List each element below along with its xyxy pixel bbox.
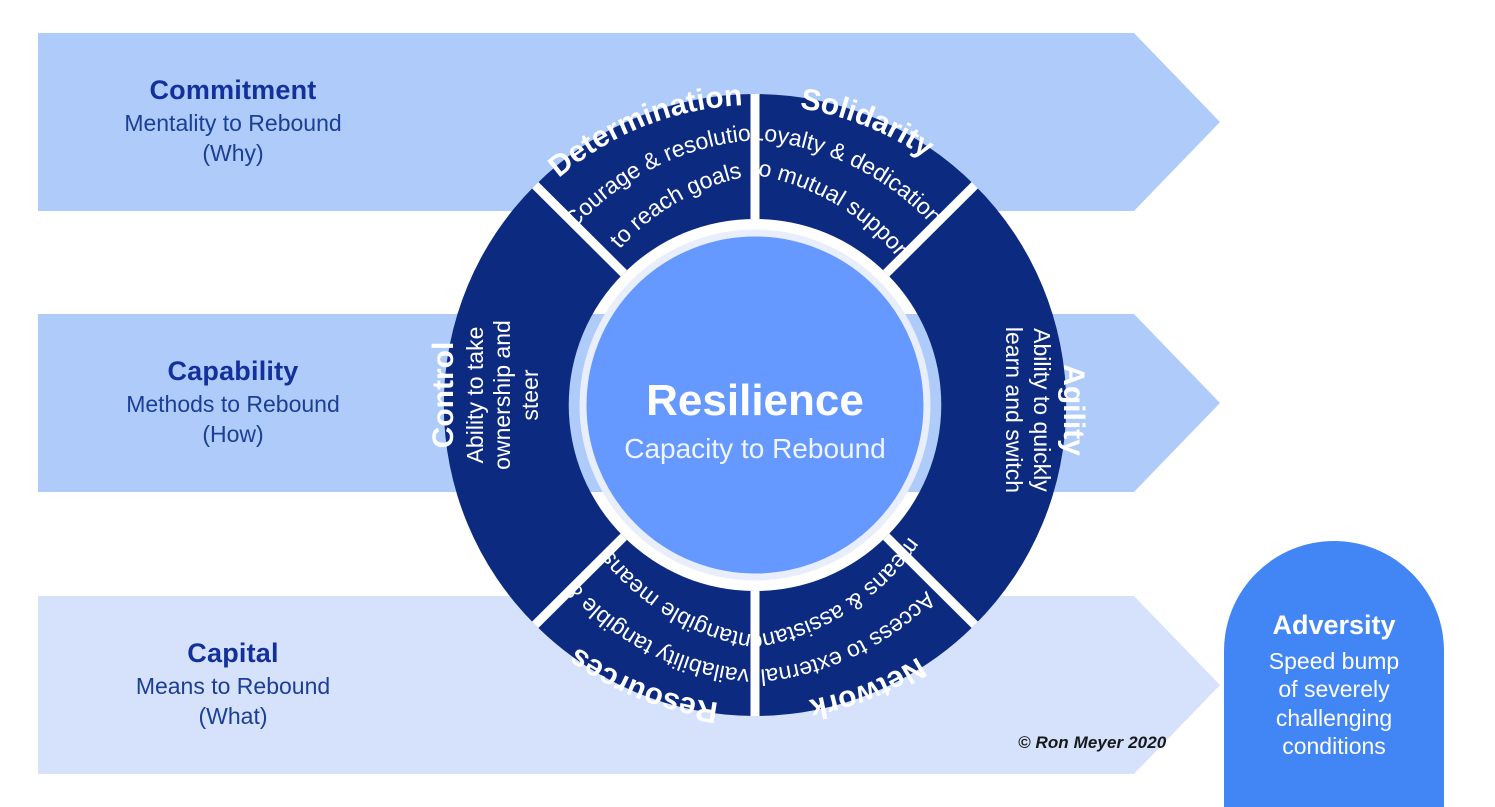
segment-control-line2: Ability to take <box>462 327 490 464</box>
arrow-capability-line3: (How) <box>202 420 263 450</box>
segment-agility-line3: learn and switch <box>999 327 1027 493</box>
segment-control-label: Control Ability to take ownership and st… <box>360 305 610 485</box>
arrow-commitment-line3: (Why) <box>202 139 263 169</box>
segment-agility-line2: Ability to quickly <box>1027 328 1055 492</box>
arrow-capital-line2: Means to Rebound <box>136 672 330 702</box>
segment-agility-label: Agility Ability to quickly learn and swi… <box>920 320 1170 500</box>
arrow-capital-line3: (What) <box>199 702 268 732</box>
adversity-line4: challenging <box>1276 704 1392 732</box>
segment-agility-title: Agility <box>1055 364 1091 456</box>
hub-title: Resilience <box>646 376 864 425</box>
arrow-commitment-line2: Mentality to Rebound <box>124 109 341 139</box>
diagram-canvas: Commitment Mentality to Rebound (Why) Ca… <box>0 0 1495 807</box>
hub-subtitle: Capacity to Rebound <box>624 433 886 464</box>
copyright-credit: © Ron Meyer 2020 <box>1018 733 1166 753</box>
arrow-capability-title: Capability <box>167 356 298 387</box>
segment-control-line3: ownership and steer <box>489 305 544 485</box>
arrow-capability-line2: Methods to Rebound <box>126 390 340 420</box>
segment-control-title: Control <box>426 342 462 449</box>
adversity-line5: conditions <box>1282 732 1386 760</box>
arrow-capital-title: Capital <box>187 638 278 669</box>
adversity-title: Adversity <box>1272 610 1395 641</box>
adversity-line3: of severely <box>1278 675 1389 703</box>
adversity-line2: Speed bump <box>1269 647 1399 675</box>
arrow-commitment-title: Commitment <box>149 75 316 106</box>
adversity-shape: Adversity Speed bump of severely challen… <box>1224 541 1444 807</box>
